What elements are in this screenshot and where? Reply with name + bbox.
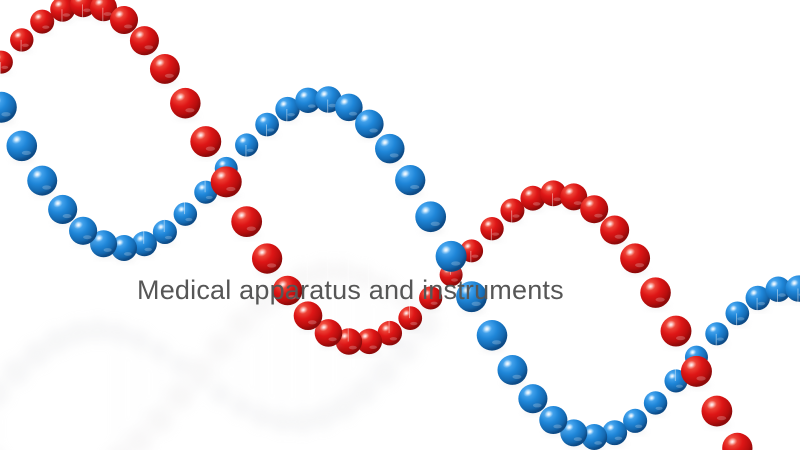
blue-base-sphere [518, 384, 547, 415]
red-base-sphere [701, 396, 732, 429]
helix-connector-rod [737, 313, 738, 448]
red-base-sphere [661, 316, 692, 349]
blue-base-sphere [6, 131, 37, 163]
blue-base-sphere [0, 92, 17, 125]
dna-illustration-canvas: Medical apparatus and instruments [0, 0, 800, 450]
helix-connector-rod [144, 41, 145, 244]
dna-helix-graphic [0, 0, 800, 450]
helix-connector-rod [573, 197, 574, 433]
red-base-sphere [231, 206, 262, 239]
helix-connector-rod [287, 109, 288, 290]
blue-base-sphere [375, 134, 404, 165]
helix-connector-rod [62, 9, 63, 209]
red-base-sphere [30, 10, 54, 35]
blue-base-sphere [27, 166, 57, 198]
blue-base-sphere [415, 201, 446, 234]
helix-connector-rod [21, 40, 22, 146]
red-base-sphere [190, 126, 221, 159]
red-base-sphere [620, 243, 650, 275]
helix-connector-rod [266, 125, 267, 259]
blue-base-sphere [355, 110, 384, 140]
helix-connector-rod [757, 298, 758, 450]
helix-connector-rod [123, 20, 124, 248]
blue-base-sphere [497, 355, 527, 387]
helix-connector-rod [614, 230, 615, 433]
helix-connector-rod [594, 209, 595, 437]
blue-base-sphere [48, 195, 77, 226]
red-base-sphere [150, 54, 180, 86]
helix-connector-rod [798, 289, 799, 450]
helix-connector-rod [164, 69, 165, 232]
helix-connector-rod [778, 289, 779, 450]
helix-connector-rod [42, 22, 43, 181]
red-base-sphere [130, 26, 159, 57]
helix-connector-rod [553, 193, 554, 420]
helix-connector-rod [369, 124, 370, 341]
blue-base-sphere [395, 165, 425, 197]
red-base-sphere [170, 88, 201, 120]
helix-connector-rod [634, 258, 635, 421]
helix-connector-rod [103, 8, 104, 244]
helix-strand-back [0, 0, 800, 450]
blue-base-sphere [644, 391, 667, 416]
red-base-sphere [252, 243, 282, 275]
helix-connector-rod [348, 107, 349, 341]
helix-connector-rod [82, 4, 83, 230]
red-base-sphere [600, 215, 629, 246]
page-caption: Medical apparatus and instruments [137, 274, 564, 306]
red-base-sphere [722, 433, 752, 450]
red-base-sphere [640, 277, 671, 309]
blue-base-sphere [477, 320, 508, 352]
blue-base-sphere [436, 241, 467, 274]
